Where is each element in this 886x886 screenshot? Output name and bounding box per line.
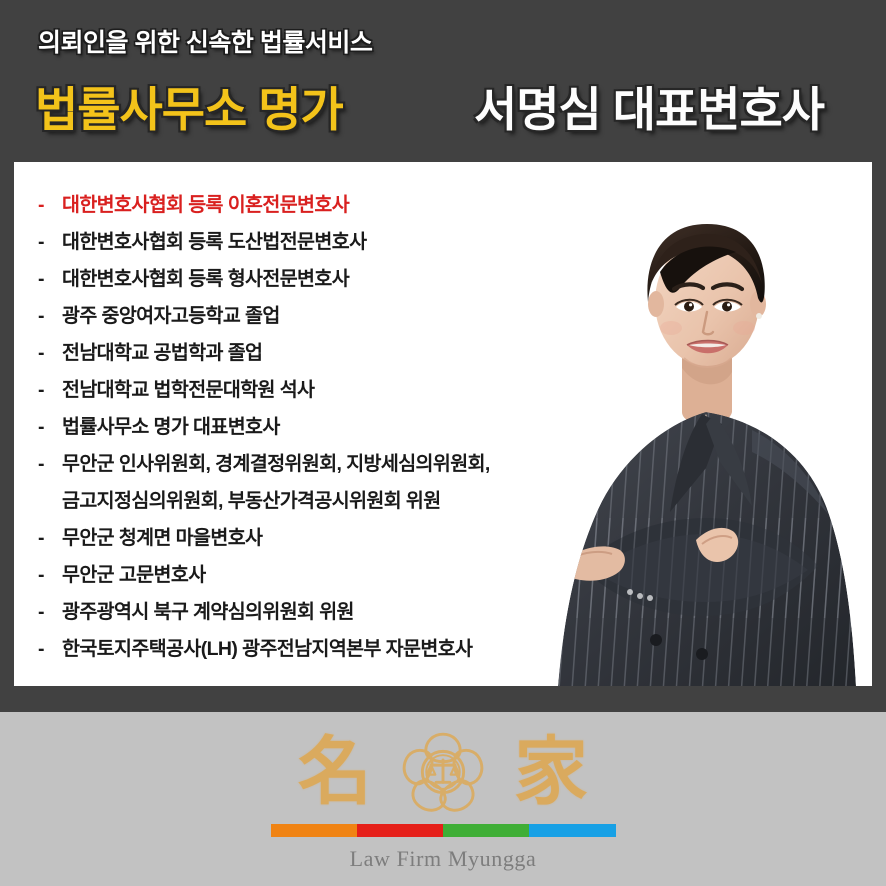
credential-item: -전남대학교 공법학과 졸업 <box>38 335 598 372</box>
bullet-dash-icon: - <box>38 224 62 261</box>
bullet-dash-icon: - <box>38 409 62 446</box>
bullet-dash-icon: - <box>38 520 62 557</box>
credential-text: 무안군 청계면 마을변호사 <box>62 520 598 557</box>
bullet-dash-icon: - <box>38 594 62 631</box>
poster-header: 의뢰인을 위한 신속한 법률서비스 법률사무소 명가 서명심 대표변호사 <box>0 0 886 162</box>
header-tagline: 의뢰인을 위한 신속한 법률서비스 <box>38 23 372 59</box>
color-bar-segment-1 <box>271 824 357 837</box>
bullet-dash-icon: - <box>38 335 62 372</box>
credential-item: -광주 중앙여자고등학교 졸업 <box>38 298 598 335</box>
bullet-dash-icon: - <box>38 187 62 224</box>
logo-glyph-row: 名 <box>0 726 886 818</box>
credential-item: -법률사무소 명가 대표변호사 <box>38 409 598 446</box>
mugunghwa-scales-emblem-icon <box>400 729 486 815</box>
credential-text: 한국토지주택공사(LH) 광주전남지역본부 자문변호사 <box>62 631 598 668</box>
bullet-dash-icon: - <box>38 298 62 335</box>
header-title-row: 법률사무소 명가 서명심 대표변호사 <box>0 80 886 148</box>
credential-text: 법률사무소 명가 대표변호사 <box>62 409 598 446</box>
lawyer-name-title: 서명심 대표변호사 <box>474 80 824 140</box>
lawyer-portrait <box>556 162 872 686</box>
poster-root: 의뢰인을 위한 신속한 법률서비스 법률사무소 명가 서명심 대표변호사 -대한… <box>0 0 886 886</box>
color-bar-segment-3 <box>443 824 529 837</box>
bullet-dash-icon: - <box>38 261 62 298</box>
credential-text: 광주 중앙여자고등학교 졸업 <box>62 298 598 335</box>
poster-footer: 名 <box>0 712 886 886</box>
credential-text: 무안군 인사위원회, 경계결정위원회, 지방세심의위원회,금고지정심의위원회, … <box>62 446 598 520</box>
credential-item: -광주광역시 북구 계약심의위원회 위원 <box>38 594 598 631</box>
credential-item: -무안군 고문변호사 <box>38 557 598 594</box>
firm-name-title: 법률사무소 명가 <box>35 80 343 140</box>
logo-hanja-myung: 名 <box>298 735 372 809</box>
color-bar-segment-4 <box>529 824 615 837</box>
color-bar-segment-2 <box>357 824 443 837</box>
credential-item: -대한변호사협회 등록 이혼전문변호사 <box>38 187 598 224</box>
firm-logo: 名 <box>0 726 886 872</box>
credential-text: 대한변호사협회 등록 이혼전문변호사 <box>62 187 598 224</box>
credential-item: -한국토지주택공사(LH) 광주전남지역본부 자문변호사 <box>38 631 598 668</box>
logo-hanja-ga: 家 <box>514 735 588 809</box>
bullet-dash-icon: - <box>38 446 62 483</box>
credential-item: -무안군 인사위원회, 경계결정위원회, 지방세심의위원회,금고지정심의위원회,… <box>38 446 598 520</box>
logo-caption: Law Firm Myungga <box>0 846 886 872</box>
logo-color-bar <box>271 824 616 837</box>
credential-item: -대한변호사협회 등록 도산법전문변호사 <box>38 224 598 261</box>
credential-text: 전남대학교 공법학과 졸업 <box>62 335 598 372</box>
bullet-dash-icon: - <box>38 557 62 594</box>
credential-text: 전남대학교 법학전문대학원 석사 <box>62 372 598 409</box>
credential-item: -무안군 청계면 마을변호사 <box>38 520 598 557</box>
credential-text: 대한변호사협회 등록 도산법전문변호사 <box>62 224 598 261</box>
credential-text: 대한변호사협회 등록 형사전문변호사 <box>62 261 598 298</box>
content-card: -대한변호사협회 등록 이혼전문변호사-대한변호사협회 등록 도산법전문변호사-… <box>14 162 872 686</box>
bullet-dash-icon: - <box>38 631 62 668</box>
credential-text: 광주광역시 북구 계약심의위원회 위원 <box>62 594 598 631</box>
bullet-dash-icon: - <box>38 372 62 409</box>
credential-text-continued: 금고지정심의위원회, 부동산가격공시위원회 위원 <box>62 483 598 520</box>
credentials-list: -대한변호사협회 등록 이혼전문변호사-대한변호사협회 등록 도산법전문변호사-… <box>38 187 598 668</box>
credential-text: 무안군 고문변호사 <box>62 557 598 594</box>
credential-item: -대한변호사협회 등록 형사전문변호사 <box>38 261 598 298</box>
credential-item: -전남대학교 법학전문대학원 석사 <box>38 372 598 409</box>
